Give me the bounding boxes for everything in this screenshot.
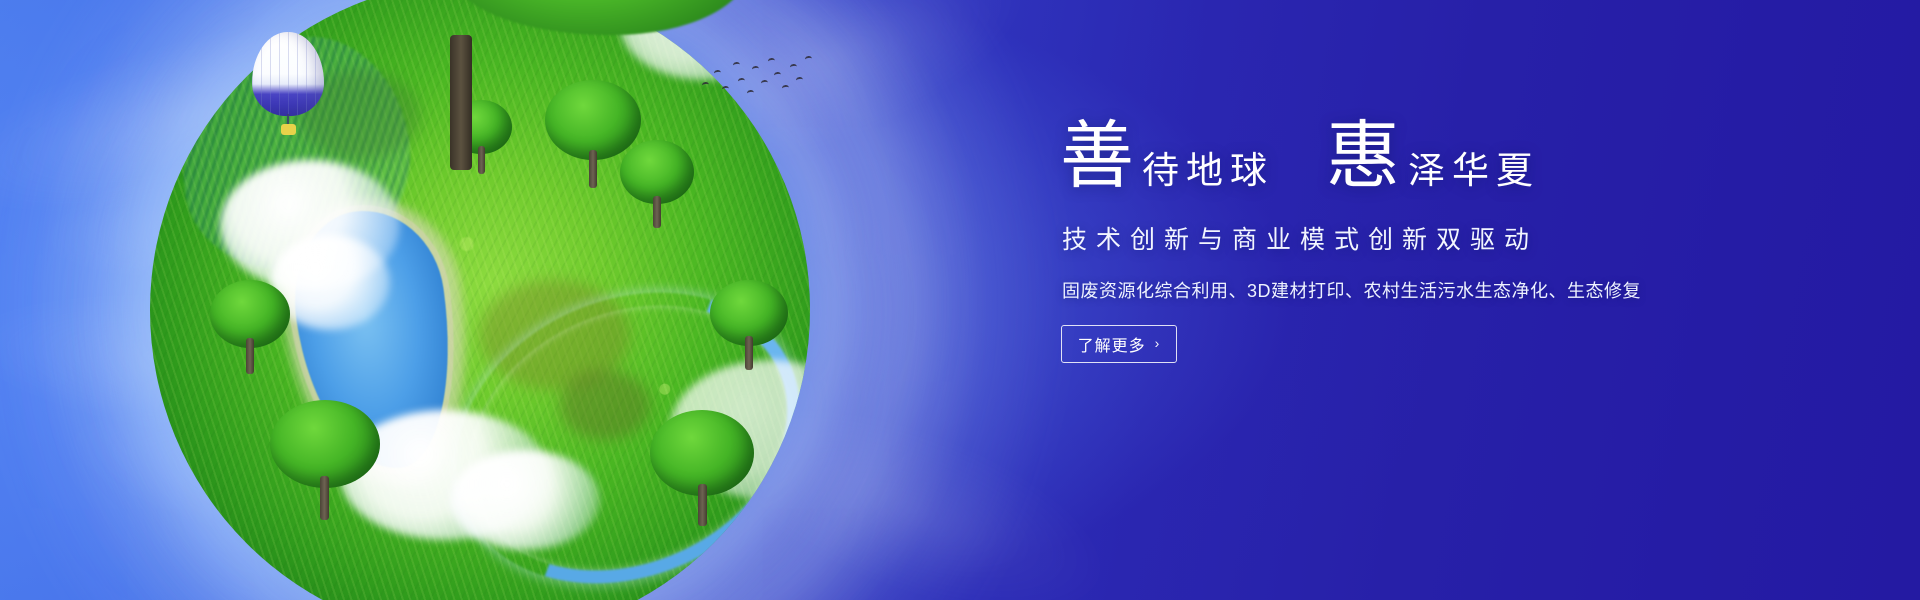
headline-part2-big: 惠 [1326,120,1400,194]
headline: 善 待地球 惠 泽华夏 [1060,120,1815,194]
headline-part2-small: 泽华夏 [1408,153,1540,194]
learn-more-button[interactable]: 了解更多 › [1061,325,1177,363]
cloud-puff [450,450,600,550]
tree-icon [270,400,380,520]
tree-crown [450,0,750,35]
banner-description: 固废资源化综合利用、3D建材打印、农村生活污水生态净化、生态修复 [1062,277,1815,303]
headline-part1-small: 待地球 [1142,153,1274,194]
hero-banner: 善 待地球 惠 泽华夏 技术创新与商业模式创新双驱动 固废资源化综合利用、3D建… [0,0,1920,600]
tree-icon [710,280,788,372]
tree-icon [650,410,754,528]
tree-trunk [450,35,472,170]
balloon-basket [281,124,296,135]
tree-icon [210,280,290,375]
tree-icon [620,140,694,228]
learn-more-label: 了解更多 [1078,332,1146,356]
headline-part1-big: 善 [1060,120,1134,194]
banner-copy: 善 待地球 惠 泽华夏 技术创新与商业模式创新双驱动 固废资源化综合利用、3D建… [1055,120,1815,363]
banner-subtitle: 技术创新与商业模式创新双驱动 [1062,220,1815,256]
chevron-right-icon: › [1155,335,1161,351]
hot-air-balloon-icon [252,32,324,136]
birds-icon [700,52,820,108]
balloon-ribs [252,32,324,116]
